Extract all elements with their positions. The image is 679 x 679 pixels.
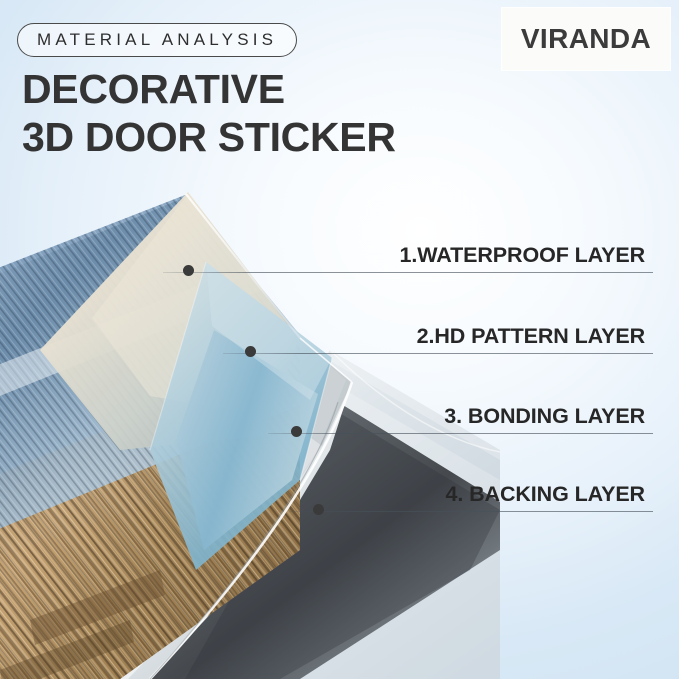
- brand-logo: VIRANDA: [502, 8, 670, 70]
- callout-underline-waterproof: [163, 272, 653, 273]
- marker-dot-waterproof: [183, 265, 194, 276]
- marker-dot-bonding: [291, 426, 302, 437]
- callout-label-backing: 4. BACKING LAYER: [445, 482, 645, 507]
- title-line-2: 3D DOOR STICKER: [22, 114, 452, 162]
- callout-label-hd-pattern: 2.HD PATTERN LAYER: [417, 324, 645, 349]
- eyebrow-badge: MATERIAL ANALYSIS: [17, 23, 297, 57]
- marker-dot-hd-pattern: [245, 346, 256, 357]
- callout-underline-backing: [290, 511, 653, 512]
- brand-name: VIRANDA: [521, 23, 651, 55]
- infographic-canvas: MATERIAL ANALYSIS DECORATIVE 3D DOOR STI…: [0, 0, 679, 679]
- page-title: DECORATIVE 3D DOOR STICKER: [22, 66, 452, 162]
- callout-underline-hd-pattern: [223, 353, 653, 354]
- callout-underline-bonding: [268, 433, 653, 434]
- callout-label-bonding: 3. BONDING LAYER: [444, 404, 645, 429]
- marker-dot-backing: [313, 504, 324, 515]
- title-line-1: DECORATIVE: [22, 66, 285, 112]
- eyebrow-label: MATERIAL ANALYSIS: [37, 30, 277, 50]
- callout-label-waterproof: 1.WATERPROOF LAYER: [400, 243, 645, 268]
- product-artwork: [0, 150, 500, 679]
